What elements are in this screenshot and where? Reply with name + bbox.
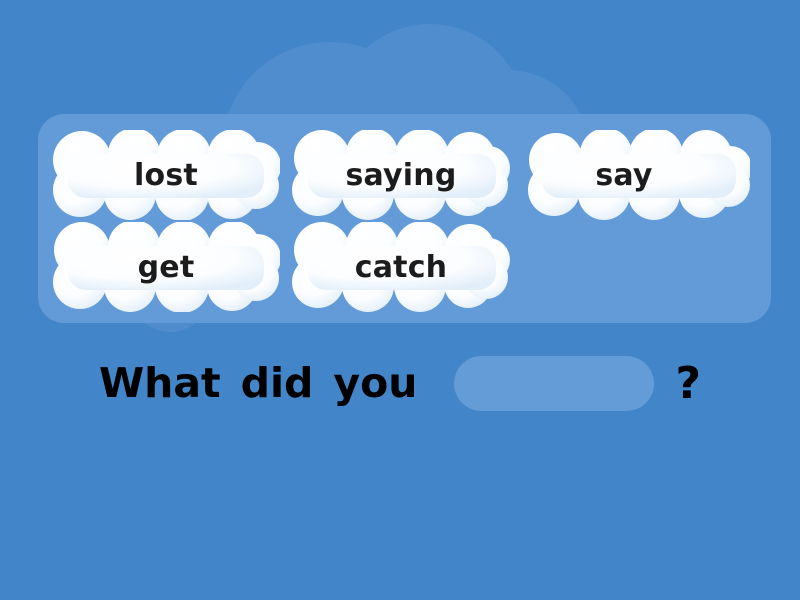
word-tile-catch[interactable]: catch	[292, 222, 510, 312]
word-tile-label: get	[52, 222, 280, 312]
question-sentence: What did you ?	[0, 340, 800, 426]
question-mark: ?	[676, 358, 702, 409]
quiz-stage: lost saying	[0, 0, 800, 600]
word-tile-label: lost	[52, 130, 280, 220]
word-tile-label: saying	[292, 130, 510, 220]
sentence-word-2: did	[241, 359, 314, 407]
word-tile-say[interactable]: say	[528, 130, 750, 220]
word-tile-saying[interactable]: saying	[292, 130, 510, 220]
word-tile-lost[interactable]: lost	[52, 130, 280, 220]
word-tile-get[interactable]: get	[52, 222, 280, 312]
word-tile-label: say	[528, 130, 750, 220]
word-tile-label: catch	[292, 222, 510, 312]
sentence-word-1: What	[99, 359, 221, 407]
sentence-word-3: you	[333, 359, 417, 407]
answer-drop-slot[interactable]	[454, 356, 654, 411]
